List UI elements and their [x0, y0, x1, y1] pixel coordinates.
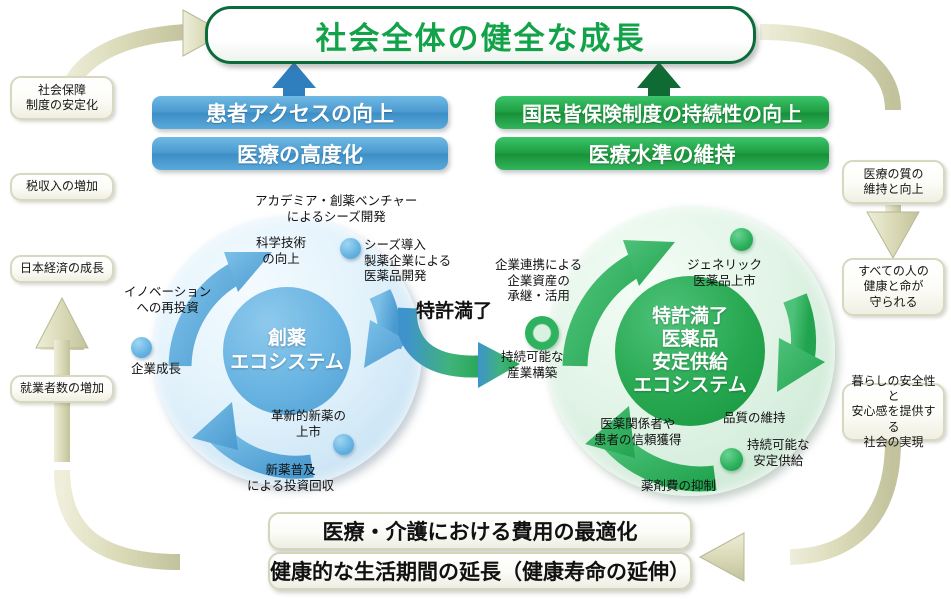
- label-sustainable-industry: 持続可能な産業構築: [501, 350, 564, 381]
- diagram-canvas: 社会全体の健全な成長 患者アクセスの向上 医療の高度化 国民皆保険制度の持続性の…: [0, 0, 951, 599]
- label-new-drug-diffusion: 新薬普及による投資回収: [247, 463, 334, 494]
- note-tax-revenue: 税収入の増加: [10, 173, 114, 201]
- page-title: 社会全体の健全な成長: [205, 6, 756, 64]
- label-reinvestment: イノベーションへの再投資: [124, 285, 211, 316]
- bottom-left-arrow: [700, 533, 790, 581]
- banner-insurance-sustainability: 国民皆保険制度の持続性の向上: [495, 96, 829, 129]
- label-patent-expiry: 特許満了: [416, 296, 492, 323]
- banner-care-standard: 医療水準の維持: [495, 137, 829, 170]
- left-cycle-center-label: 創薬エコシステム: [223, 287, 351, 415]
- note-care-quality: 医療の質の維持と向上: [842, 160, 945, 204]
- node-dot-sustainable-industry: [525, 316, 559, 350]
- label-generic-launch: ジェネリック医薬品上市: [687, 258, 762, 289]
- label-trust-from-patients: 医薬関係者や患者の信頼獲得: [594, 417, 682, 448]
- banner-patient-access: 患者アクセスの向上: [152, 96, 448, 129]
- label-drug-cost-control: 薬剤費の抑制: [641, 479, 716, 495]
- label-quality-maintenance: 品質の維持: [723, 411, 786, 427]
- label-sustainable-supply: 持続可能な安定供給: [747, 438, 810, 469]
- banner-advanced-care: 医療の高度化: [152, 137, 448, 170]
- note-safe-society: 暮らしの安全性と安心感を提供する社会の実現: [842, 383, 945, 441]
- label-innovative-launch: 革新的新薬の上市: [271, 409, 346, 440]
- note-employment: 就業者数の増加: [10, 375, 114, 403]
- note-health-protected: すべての人の健康と命が守られる: [842, 258, 945, 316]
- note-social-security: 社会保障制度の安定化: [10, 76, 114, 120]
- label-seeds-to-pharma: シーズ導入製薬企業による医薬品開発: [364, 238, 451, 285]
- label-academia-seeds: アカデミア・創薬ベンチャーによるシーズ開発: [255, 194, 417, 225]
- label-corporate-growth: 企業成長: [131, 362, 181, 378]
- label-asset-succession: 企業連携による企業資産の承継・活用: [495, 258, 582, 305]
- node-dot-generic-launch: [730, 228, 753, 251]
- label-science-advancement: 科学技術の向上: [256, 236, 306, 267]
- right-cycle-center-label: 特許満了医薬品安定供給エコシステム: [615, 276, 765, 426]
- node-dot-corporate-growth: [131, 337, 152, 358]
- banner-cost-optimization: 医療・介護における費用の最適化: [268, 512, 692, 550]
- note-economy-growth: 日本経済の成長: [10, 255, 114, 283]
- node-dot-seeds-intro: [340, 238, 361, 259]
- banner-healthy-life: 健康的な生活期間の延長（健康寿命の延伸）: [268, 552, 692, 590]
- node-dot-stable-supply: [720, 448, 743, 471]
